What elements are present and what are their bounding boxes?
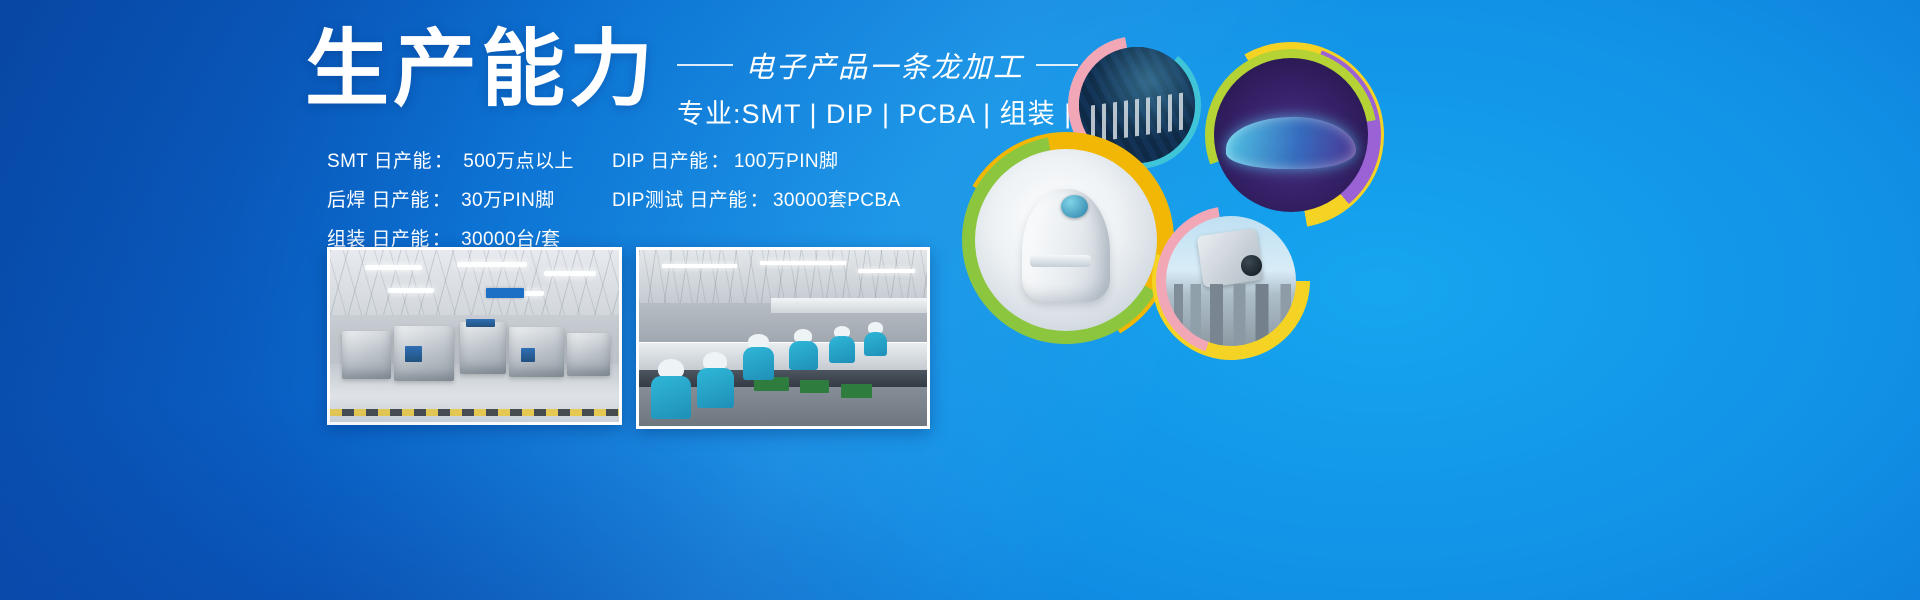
ceiling-light xyxy=(544,271,596,276)
spec-value: 500万点以上 xyxy=(455,146,574,173)
smt-machine xyxy=(509,327,564,377)
overhead-shelf xyxy=(771,298,927,314)
spec-separator: ： xyxy=(748,185,771,212)
smt-workshop-photo xyxy=(327,247,622,425)
machine-panel xyxy=(521,348,535,362)
fryer-knob xyxy=(1061,195,1088,219)
camera-lens-icon xyxy=(1241,255,1262,276)
spec-column-right: DIP 日产能 ： 100万PIN脚 DIP测试 日产能 ： 30000套PCB… xyxy=(612,146,901,251)
fryer-handle xyxy=(1030,255,1092,268)
worker-body xyxy=(651,376,691,419)
spec-value: 100万PIN脚 xyxy=(732,146,839,173)
spec-value: 30000套PCBA xyxy=(771,185,901,212)
spec-separator: ： xyxy=(430,185,453,212)
overhead-sign xyxy=(486,288,524,298)
machine-panel xyxy=(405,346,422,361)
worker xyxy=(697,352,734,408)
spec-column-left: SMT 日产能 ： 500万点以上 后焊 日产能 ： 30万PIN脚 组装 日产… xyxy=(327,146,612,251)
ceiling-light xyxy=(760,261,846,265)
spec-label: DIP测试 日产能 xyxy=(612,185,748,212)
worker-body xyxy=(829,336,855,363)
ceiling-light xyxy=(365,265,423,270)
spec-row: SMT 日产能 ： 500万点以上 xyxy=(327,146,612,173)
worker-body xyxy=(697,368,734,409)
air-fryer-scene xyxy=(975,149,1157,331)
ceiling-grid xyxy=(639,250,927,303)
ceiling-light xyxy=(388,288,434,293)
security-camera-disc xyxy=(1152,202,1310,360)
smt-machine xyxy=(567,333,610,376)
automotive-scene xyxy=(1214,58,1368,212)
divider-rule-left xyxy=(677,64,733,66)
ceiling-light xyxy=(858,269,916,273)
spec-separator: ： xyxy=(708,146,731,173)
worker-body xyxy=(789,341,818,370)
assembly-illustration xyxy=(639,250,927,426)
spec-row: DIP 日产能 ： 100万PIN脚 xyxy=(612,146,901,173)
cleanroom-illustration xyxy=(330,250,619,422)
product-showcase-collage xyxy=(940,20,1460,400)
worker xyxy=(829,326,855,363)
smt-machine xyxy=(342,331,391,379)
spec-row: DIP测试 日产能 ： 30000套PCBA xyxy=(612,185,901,212)
spec-label: SMT 日产能 xyxy=(327,146,432,173)
worker xyxy=(864,322,887,355)
security-camera-image xyxy=(1166,216,1296,346)
automotive-tech-disc xyxy=(1198,42,1384,228)
ceiling-light xyxy=(662,264,737,268)
capacity-spec-list: SMT 日产能 ： 500万点以上 后焊 日产能 ： 30万PIN脚 组装 日产… xyxy=(327,146,901,251)
worker xyxy=(651,359,691,419)
smt-machine xyxy=(394,326,455,381)
spec-row: 后焊 日产能 ： 30万PIN脚 xyxy=(327,185,612,212)
component-tray xyxy=(841,384,873,398)
automotive-tech-image xyxy=(1214,58,1368,212)
ceiling-grid xyxy=(330,250,619,315)
component-tray xyxy=(800,380,829,392)
spec-value: 30万PIN脚 xyxy=(453,185,555,212)
city-scene xyxy=(1166,216,1296,346)
worker xyxy=(789,329,818,369)
air-fryer-image xyxy=(975,149,1157,331)
ceiling-light xyxy=(457,262,526,267)
worker-body xyxy=(743,347,775,380)
worker xyxy=(743,334,775,380)
air-fryer-product-disc xyxy=(958,132,1174,348)
spec-separator: ： xyxy=(432,146,455,173)
production-capacity-banner: 生产能力 电子产品一条龙加工 专业:SMT | DIP | PCBA | 组装 … xyxy=(0,0,1920,600)
machine-panel xyxy=(466,319,495,328)
spec-label: 后焊 日产能 xyxy=(327,185,430,212)
spec-label: DIP 日产能 xyxy=(612,146,708,173)
worker-body xyxy=(864,332,887,356)
page-title: 生产能力 xyxy=(305,26,657,112)
smt-machine xyxy=(460,322,506,374)
assembly-line-photo xyxy=(636,247,930,429)
